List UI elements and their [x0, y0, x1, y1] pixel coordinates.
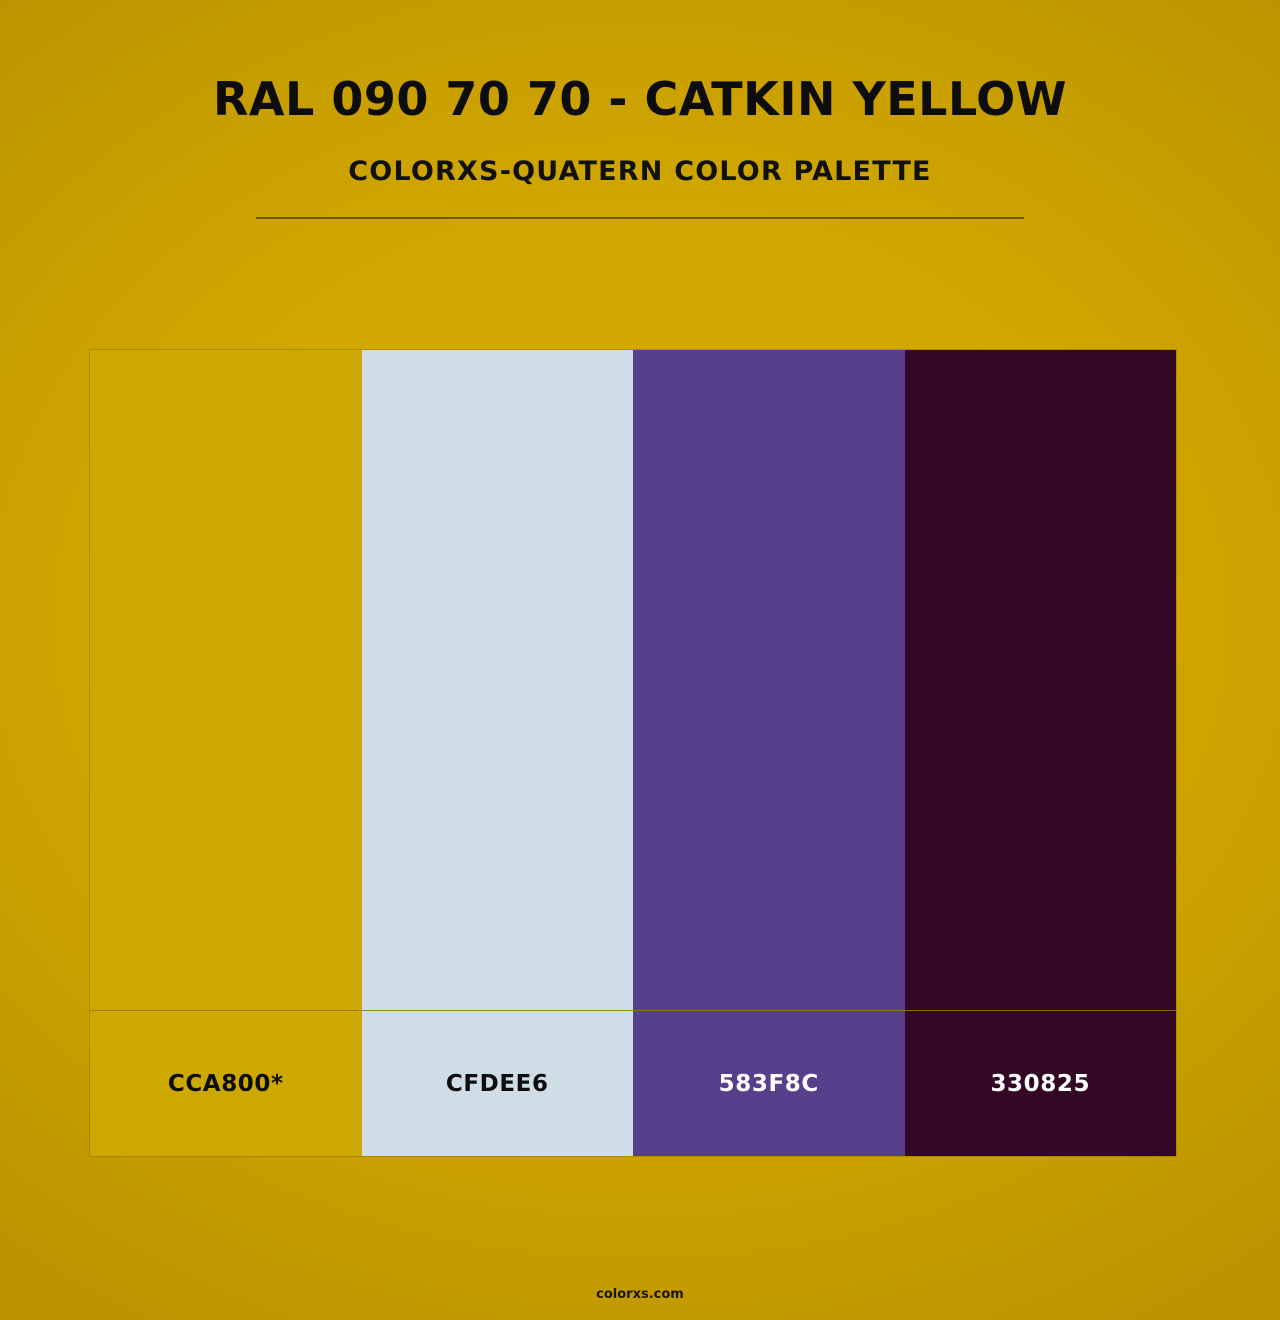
- swatch-color-2[interactable]: [633, 350, 905, 1010]
- swatch-label-3: 330825: [905, 1010, 1177, 1156]
- header: RAL 090 70 70 - CATKIN YELLOW COLORXS-QU…: [0, 0, 1280, 219]
- palette-swatch[interactable]: CFDEE6: [362, 350, 634, 1156]
- color-palette: CCA800* CFDEE6 583F8C 330825: [90, 350, 1176, 1156]
- swatch-color-3[interactable]: [905, 350, 1177, 1010]
- swatch-color-0[interactable]: [90, 350, 362, 1010]
- footer-site-label: colorxs.com: [0, 1287, 1280, 1320]
- page-title: RAL 090 70 70 - CATKIN YELLOW: [0, 0, 1280, 126]
- palette-swatch[interactable]: 330825: [905, 350, 1177, 1156]
- page-root: RAL 090 70 70 - CATKIN YELLOW COLORXS-QU…: [0, 0, 1280, 1320]
- page-subtitle: COLORXS-QUATERN COLOR PALETTE: [0, 126, 1280, 187]
- swatch-color-1[interactable]: [362, 350, 634, 1010]
- swatch-label-0: CCA800*: [90, 1010, 362, 1156]
- swatch-label-2: 583F8C: [633, 1010, 905, 1156]
- swatch-label-1: CFDEE6: [362, 1010, 634, 1156]
- header-divider: [256, 217, 1024, 219]
- palette-swatch[interactable]: 583F8C: [633, 350, 905, 1156]
- palette-swatch[interactable]: CCA800*: [90, 350, 362, 1156]
